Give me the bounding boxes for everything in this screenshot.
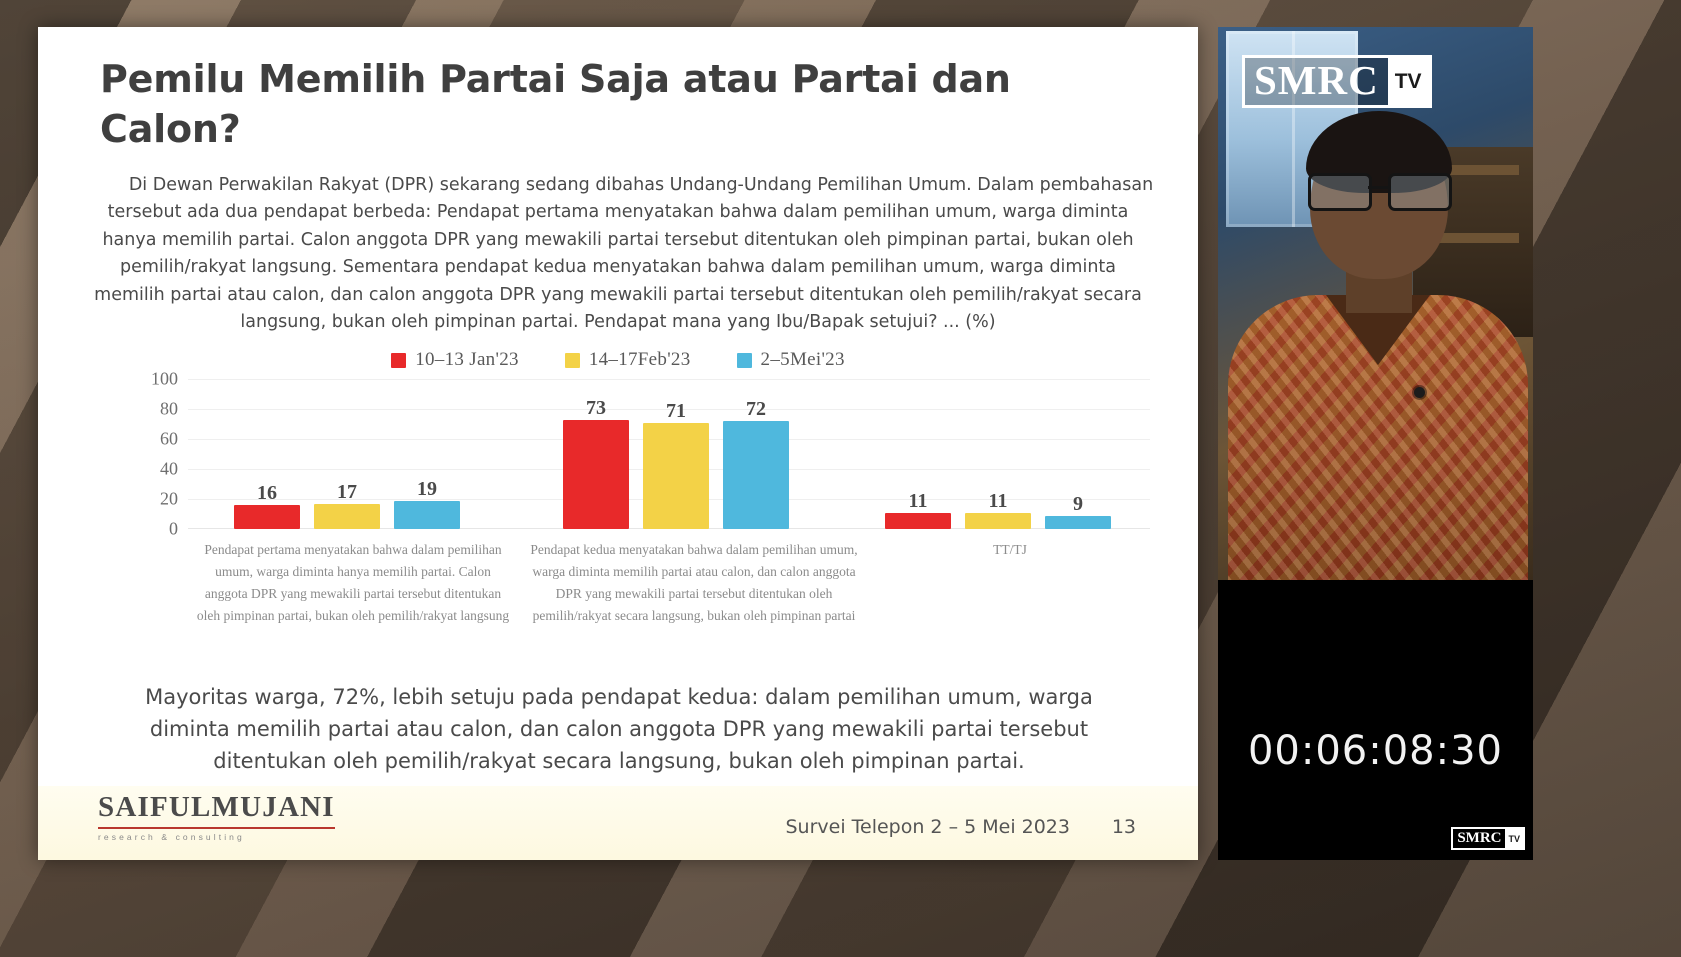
bar-wrap: 11	[885, 379, 951, 529]
bar-wrap: 73	[563, 379, 629, 529]
clip-microphone-icon	[1414, 387, 1425, 398]
lens-left	[1308, 173, 1372, 211]
plot-area: 16 17 19	[188, 379, 1150, 529]
bar-wrap: 17	[314, 379, 380, 529]
y-tick-0: 0	[169, 519, 178, 540]
bar-jan-group2	[885, 513, 951, 530]
bar-wrap: 16	[234, 379, 300, 529]
smrc-watermark-tv-badge: TV	[1505, 829, 1523, 848]
smrc-tv-badge: TV	[1388, 58, 1429, 105]
smrc-tv-logo: SMRC TV	[1242, 55, 1432, 108]
y-axis: 100 80 60 40 20 0	[130, 379, 178, 529]
legend-item-1: 14–17Feb'23	[565, 349, 691, 371]
bar-feb-group0	[314, 504, 380, 530]
chart-legend: 10–13 Jan'23 14–17Feb'23 2–5Mei'23	[82, 349, 1154, 371]
bar-value-label: 72	[723, 398, 789, 421]
footer-page-number: 13	[1112, 816, 1136, 838]
presentation-slide: Pemilu Memilih Partai Saja atau Partai d…	[38, 27, 1198, 860]
bar-value-label: 9	[1045, 493, 1111, 516]
x-axis-category-labels: Pendapat pertama menyatakan bahwa dalam …	[188, 539, 1150, 626]
survey-question-body: Di Dewan Perwakilan Rakyat (DPR) sekaran…	[94, 175, 1153, 332]
smrc-wordmark: SMRC	[1245, 58, 1388, 105]
legend-label-2: 2–5Mei'23	[761, 349, 845, 371]
bar-value-label: 17	[314, 481, 380, 504]
eyeglasses-icon	[1306, 173, 1454, 207]
screen: Pemilu Memilih Partai Saja atau Partai d…	[0, 0, 1681, 957]
legend-swatch-icon	[391, 353, 406, 368]
bar-value-label: 11	[965, 490, 1031, 513]
category-label-2: TT/TJ	[870, 539, 1150, 626]
bar-value-label: 73	[563, 397, 629, 420]
bar-value-label: 19	[394, 478, 460, 501]
legend-swatch-icon	[565, 353, 580, 368]
saiful-mujani-logo: SAIFULMUJANI research & consulting	[98, 791, 335, 842]
y-tick-40: 40	[160, 459, 178, 480]
survey-question-text: Di Dewan Perwakilan Rakyat (DPR) sekaran…	[82, 172, 1154, 337]
bar-value-label: 16	[234, 482, 300, 505]
slide-title: Pemilu Memilih Partai Saja atau Partai d…	[100, 54, 1110, 154]
category-label-0: Pendapat pertama menyatakan bahwa dalam …	[188, 539, 518, 626]
legend-label-0: 10–13 Jan'23	[415, 349, 519, 371]
y-tick-80: 80	[160, 399, 178, 420]
legend-item-0: 10–13 Jan'23	[391, 349, 519, 371]
bar-value-label: 11	[885, 490, 951, 513]
bar-value-label: 71	[643, 400, 709, 423]
y-tick-20: 20	[160, 489, 178, 510]
bar-group-1: 73 71 72	[506, 379, 846, 529]
bar-jan-group1	[563, 420, 629, 530]
y-tick-60: 60	[160, 429, 178, 450]
bar-mei-group0	[394, 501, 460, 530]
footer-source: Survei Telepon 2 – 5 Mei 2023	[785, 816, 1070, 838]
legend-item-2: 2–5Mei'23	[737, 349, 845, 371]
legend-swatch-icon	[737, 353, 752, 368]
bar-wrap: 72	[723, 379, 789, 529]
bar-wrap: 9	[1045, 379, 1111, 529]
video-lower-bar: 00:06:08:30 SMRC TV	[1218, 580, 1533, 860]
video-panel[interactable]: SMRC TV 00:06:08:30 SMRC TV	[1218, 27, 1533, 860]
bar-mei-group1	[723, 421, 789, 529]
video-feed[interactable]: SMRC TV	[1218, 27, 1533, 580]
slide-conclusion-text: Mayoritas warga, 72%, lebih setuju pada …	[104, 682, 1134, 778]
bar-jan-group0	[234, 505, 300, 529]
bar-feb-group2	[965, 513, 1031, 530]
legend-label-1: 14–17Feb'23	[589, 349, 691, 371]
smrc-watermark: SMRC TV	[1451, 827, 1525, 850]
timecode-display: 00:06:08:30	[1218, 728, 1533, 774]
logo-wordmark: SAIFULMUJANI	[98, 791, 335, 824]
bar-feb-group1	[643, 423, 709, 530]
bar-wrap: 71	[643, 379, 709, 529]
bar-group-0: 16 17 19	[188, 379, 506, 529]
bar-chart: 100 80 60 40 20 0 16	[130, 379, 1150, 679]
y-tick-100: 100	[151, 369, 178, 390]
bar-mei-group2	[1045, 516, 1111, 530]
bar-group-2: 11 11 9	[846, 379, 1150, 529]
bar-wrap: 11	[965, 379, 1031, 529]
category-label-1: Pendapat kedua menyatakan bahwa dalam pe…	[518, 539, 870, 626]
smrc-watermark-wordmark: SMRC	[1453, 829, 1505, 848]
logo-rule	[98, 827, 335, 829]
bar-groups: 16 17 19	[188, 379, 1150, 529]
logo-tagline: research & consulting	[98, 832, 335, 842]
bar-wrap: 19	[394, 379, 460, 529]
lens-right	[1388, 173, 1452, 211]
